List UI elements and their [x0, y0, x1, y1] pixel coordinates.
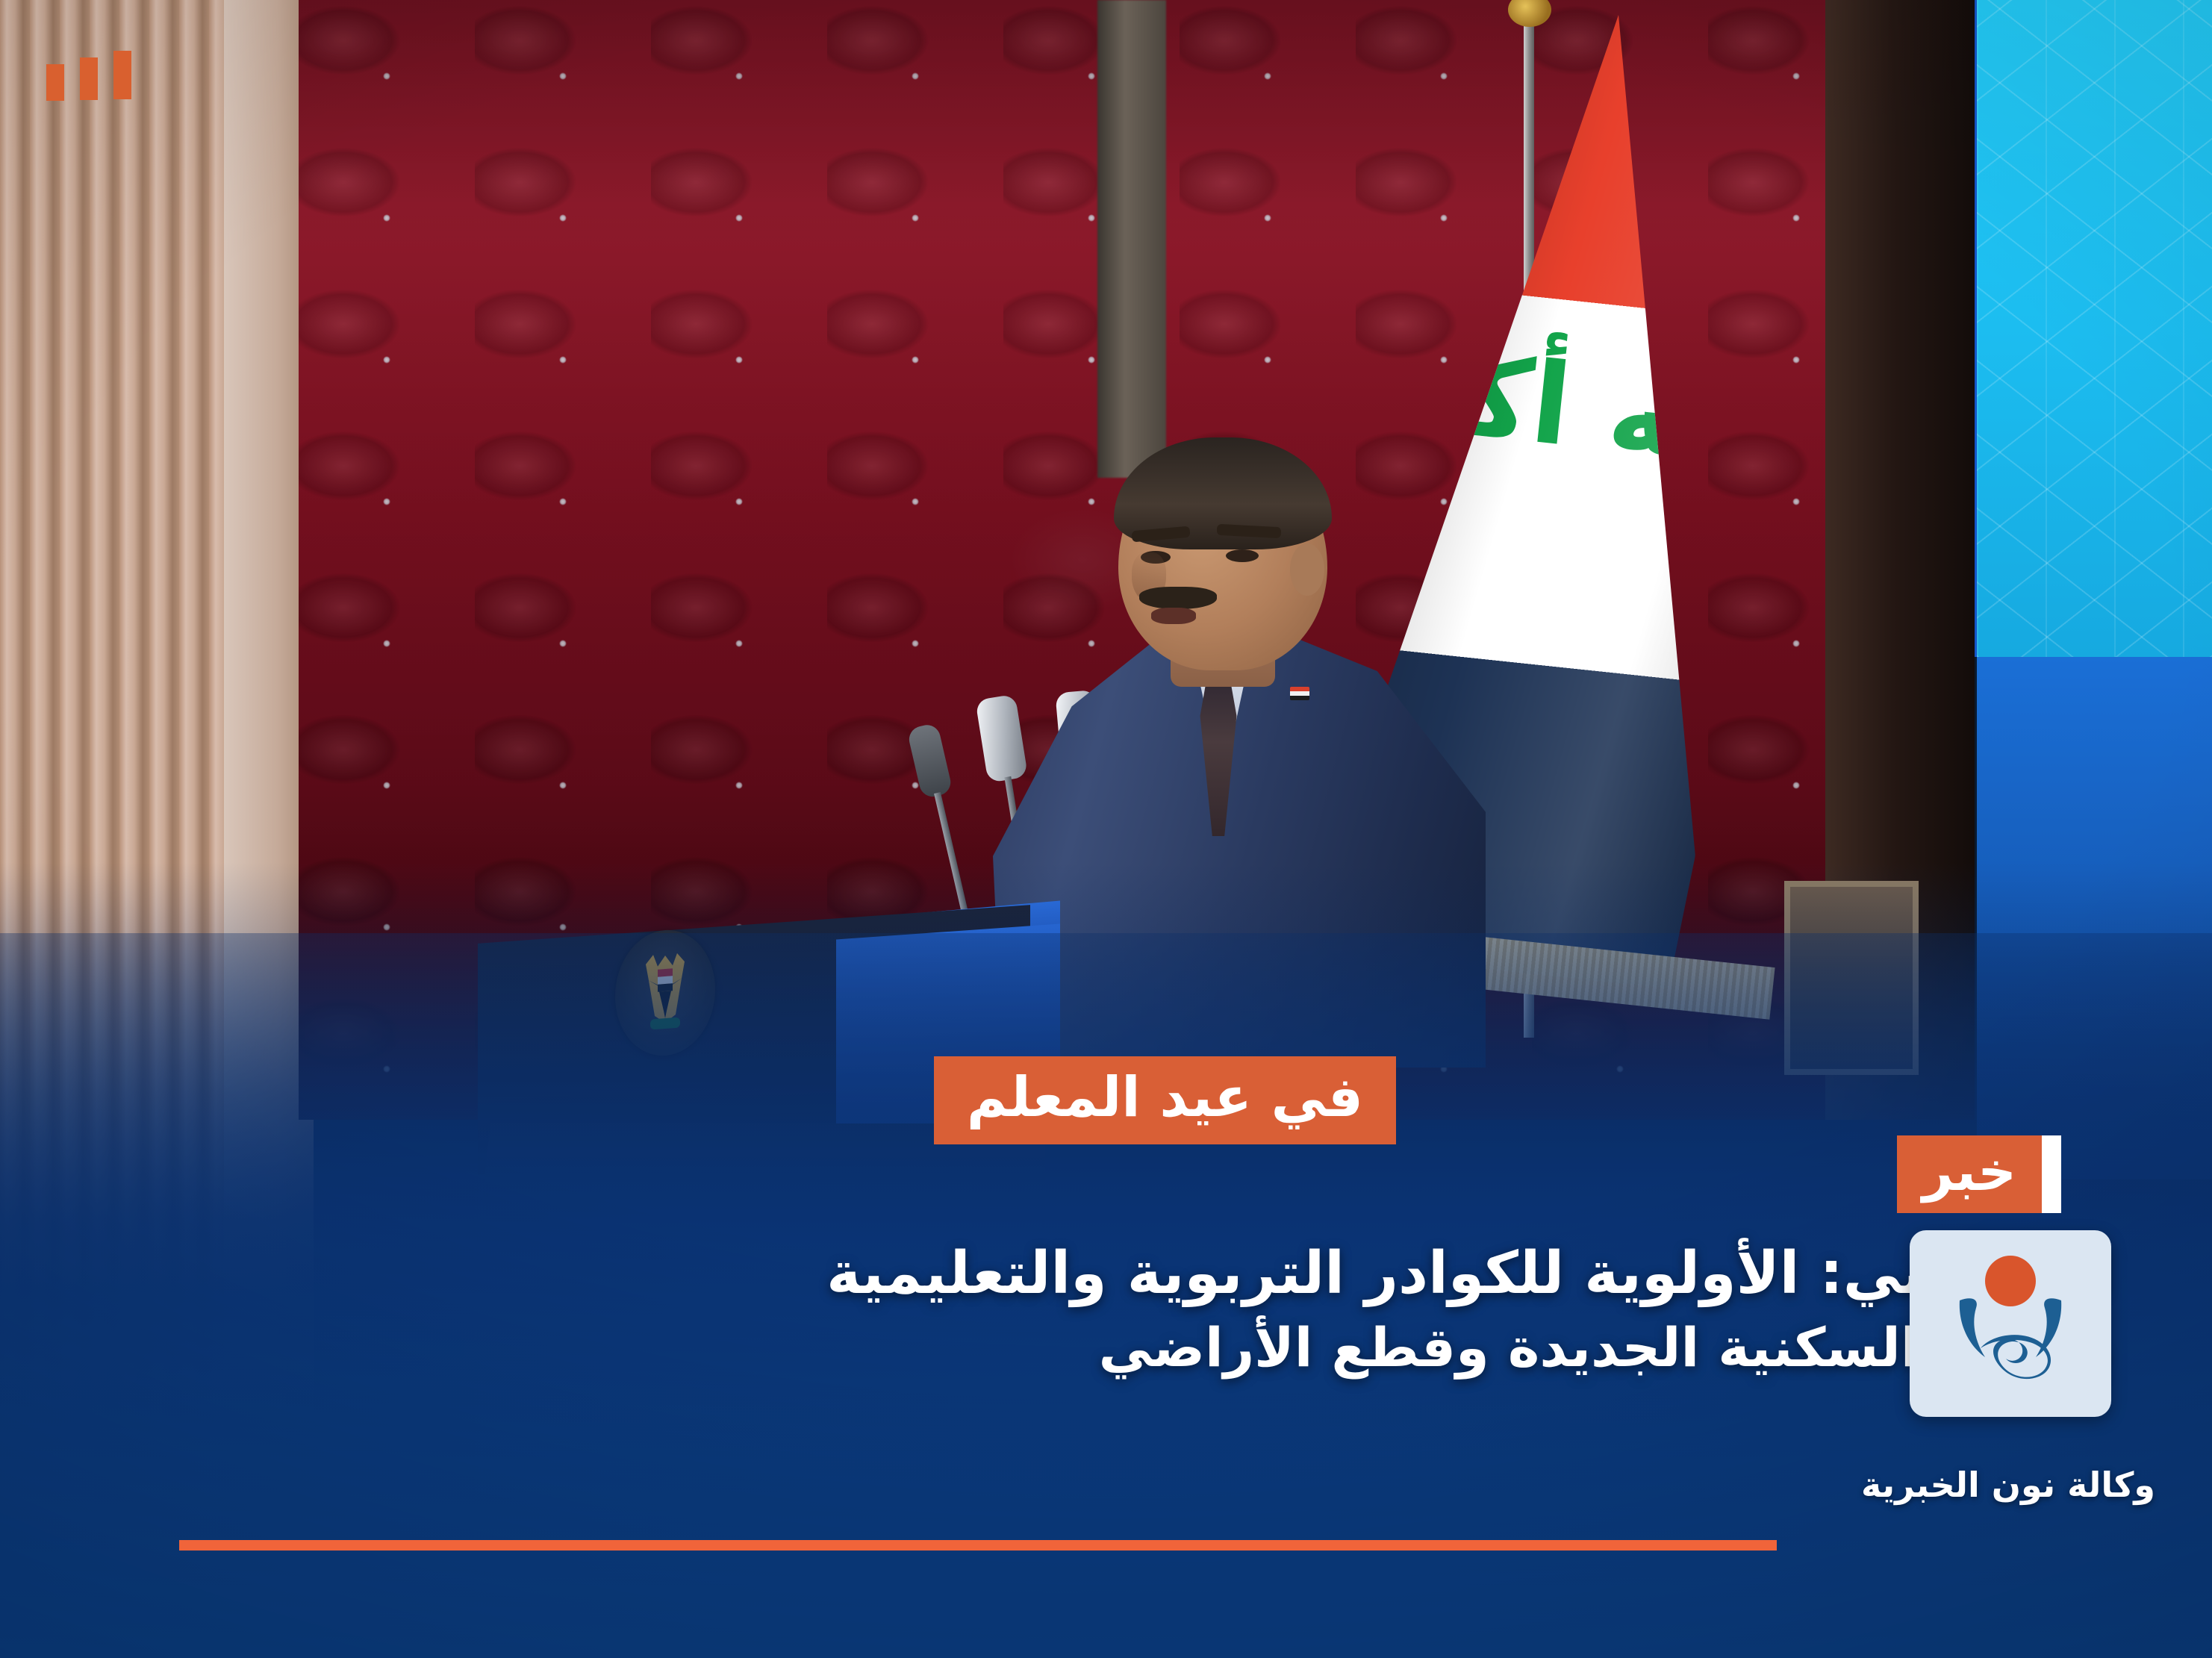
news-badge: خبر [1897, 1135, 2061, 1213]
background-photo: الله أكبر [0, 0, 2212, 1658]
kicker-badge: في عيد المعلم [934, 1056, 1396, 1144]
news-graphic: الله أكبر [0, 0, 2212, 1658]
news-badge-label: خبر [1897, 1135, 2042, 1213]
headline-rule [179, 1540, 1777, 1551]
noon-agency-logo-icon [1936, 1253, 2085, 1394]
corner-mark-1 [113, 51, 131, 99]
news-badge-tick [2042, 1135, 2061, 1213]
corner-marks [46, 51, 131, 101]
agency-name: وكالة نون الخبرية [1833, 1465, 2184, 1505]
agency-logo [1910, 1230, 2111, 1417]
vignette [0, 0, 2212, 1658]
corner-mark-2 [80, 57, 98, 100]
corner-mark-3 [46, 64, 64, 101]
